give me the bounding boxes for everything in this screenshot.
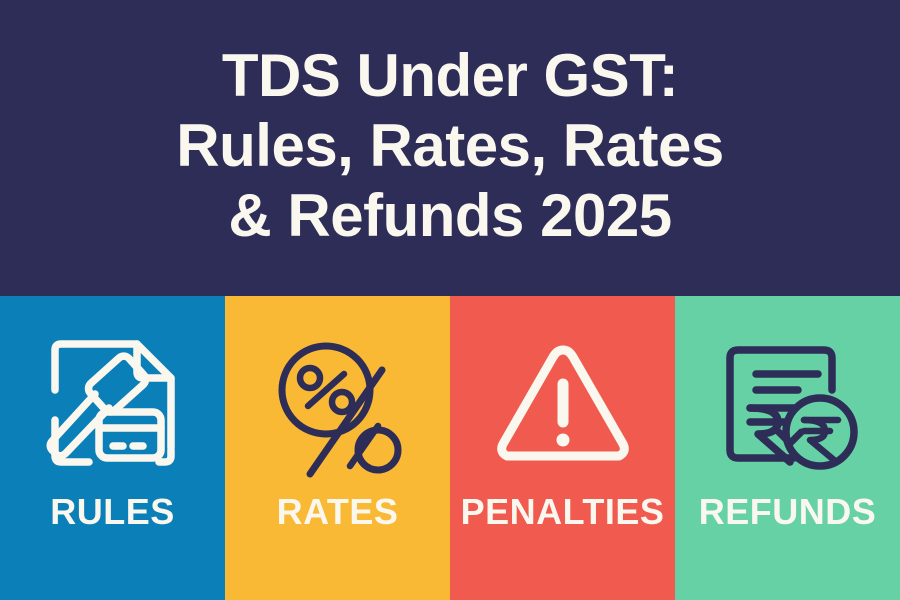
- panel-rates[interactable]: RATES: [225, 296, 450, 600]
- gavel-document-card-icon: [33, 328, 193, 488]
- panel-penalties[interactable]: PENALTIES: [450, 296, 675, 600]
- panel-label-penalties: PENALTIES: [450, 492, 675, 532]
- page-title: TDS Under GST: Rules, Rates, Rates & Ref…: [176, 41, 723, 251]
- warning-dot: [556, 434, 569, 447]
- panel-label-refunds: REFUNDS: [675, 492, 900, 532]
- percent-magnifier-icon: [258, 328, 418, 488]
- panel-rules[interactable]: RULES: [0, 296, 225, 600]
- warning-triangle-icon: [483, 328, 643, 488]
- rupee-refund-document-icon: [708, 328, 868, 488]
- header-banner: TDS Under GST: Rules, Rates, Rates & Ref…: [0, 0, 900, 296]
- panel-label-rules: RULES: [0, 492, 225, 532]
- panel-refunds[interactable]: REFUNDS: [675, 296, 900, 600]
- panel-label-rates: RATES: [225, 492, 450, 532]
- category-panel-row: RULES RATES: [0, 296, 900, 600]
- infographic-banner: TDS Under GST: Rules, Rates, Rates & Ref…: [0, 0, 900, 600]
